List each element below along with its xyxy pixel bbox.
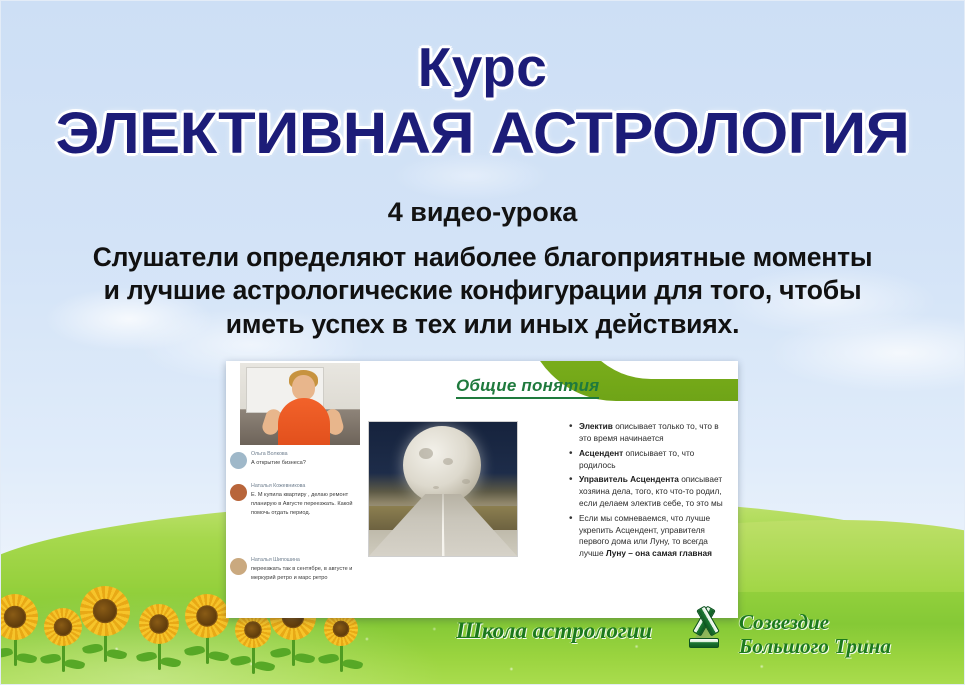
avatar: [230, 452, 247, 469]
moon-shape: [403, 426, 481, 504]
chat-text: Е. М купила квартиру , делаю ремонт план…: [251, 491, 356, 518]
presenter-body: [278, 398, 330, 445]
slide-heading: Общие понятия: [456, 376, 599, 399]
school-label: Школа астрологии: [456, 618, 652, 644]
bullet-item: Асцендент описывает то, что родилось: [568, 448, 732, 472]
chat-author: Ольга Волкова: [251, 451, 356, 459]
chat-message: Наталья Шипошина переезжать так в сентяб…: [230, 557, 356, 583]
chat-text: А открытие бизнеса?: [251, 459, 356, 468]
description-paragraph: Слушатели определяют наиболее благоприят…: [9, 241, 956, 341]
triangle-logo-icon: [684, 612, 726, 654]
slide-bullet-list: Электив описывает только то, что в это в…: [528, 421, 732, 563]
bullet-term: Луну – она самая главная: [606, 548, 712, 558]
chat-message: Наталья Кожевникова Е. М купила квартиру…: [230, 483, 356, 518]
bullet-item: Управитель Асцендента описывает хозяина …: [568, 474, 732, 509]
lessons-count-subtitle: 4 видео-урока: [1, 197, 964, 228]
avatar: [230, 484, 247, 501]
chat-panel: Ольга Волкова А открытие бизнеса? Наталь…: [226, 361, 361, 618]
brand-name-line-1: Созвездие: [739, 610, 829, 634]
avatar: [230, 558, 247, 575]
brand-name: Созвездие Большого Трина: [739, 610, 891, 659]
presentation-slide: Общие понятия Электив описывает только т…: [360, 361, 738, 618]
presenter-webcam: [240, 363, 360, 445]
chat-author: Наталья Кожевникова: [251, 483, 356, 491]
branding-strip: Школа астрологии Созвездие Большого Трин…: [456, 610, 926, 662]
presenter-head: [292, 375, 315, 400]
promo-poster: Курс ЭЛЕКТИВНАЯ АСТРОЛОГИЯ 4 видео-урока…: [0, 0, 965, 685]
brand-name-line-2: Большого Трина: [739, 634, 891, 658]
bullet-term: Управитель Асцендента: [579, 474, 679, 484]
moon-road-image: [368, 421, 518, 557]
description-line-2: и лучшие астрологические конфигурации дл…: [9, 274, 956, 307]
description-line-3: иметь успех в тех или иных действиях.: [9, 308, 956, 341]
bullet-item: Электив описывает только то, что в это в…: [568, 421, 732, 445]
chat-author: Наталья Шипошина: [251, 557, 356, 565]
chat-message: Ольга Волкова А открытие бизнеса?: [230, 451, 356, 468]
bullet-term: Электив: [579, 421, 613, 431]
description-line-1: Слушатели определяют наиболее благоприят…: [9, 241, 956, 274]
webinar-screenshot: Ольга Волкова А открытие бизнеса? Наталь…: [226, 361, 738, 618]
bullet-term: Асцендент: [579, 448, 623, 458]
chat-text: переезжать так в сентябре, в августе и м…: [251, 565, 356, 583]
bullet-item: Если мы сомневаемся, что лучше укрепить …: [568, 513, 732, 560]
